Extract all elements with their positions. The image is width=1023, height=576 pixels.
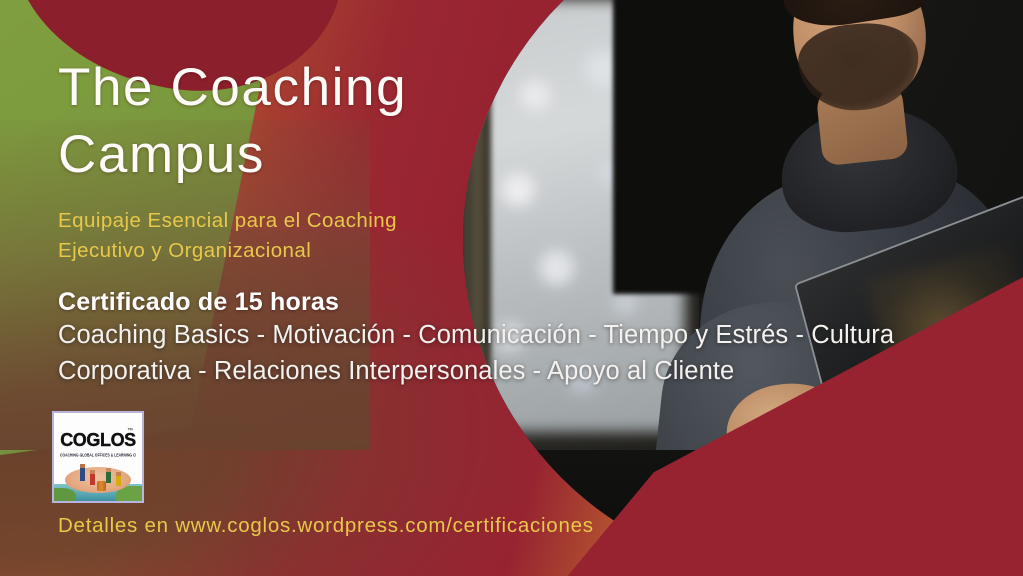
logo-art-barrel <box>97 481 106 491</box>
coglos-logo: COGLOS ™ COACHING GLOBAL OFFICES & LEARN… <box>52 411 144 503</box>
topics-list: Coaching Basics - Motivación - Comunicac… <box>58 317 988 389</box>
trademark-icon: ™ <box>127 428 133 434</box>
promo-poster: The Coaching Campus Equipaje Esencial pa… <box>0 0 1023 576</box>
logo-art-grass-left <box>54 488 76 501</box>
logo-inner: COGLOS ™ COACHING GLOBAL OFFICES & LEARN… <box>54 413 142 501</box>
logo-tagline: COACHING GLOBAL OFFICES & LEARNING CENTE… <box>60 452 136 457</box>
topics-line-2: Corporativa - Relaciones Interpersonales… <box>58 353 988 389</box>
poster-subtitle: Equipaje Esencial para el Coaching Ejecu… <box>58 206 478 265</box>
logo-art-figure <box>116 476 121 486</box>
logo-art-figure <box>90 474 95 485</box>
certificate-label: Certificado de 15 horas <box>58 288 339 317</box>
logo-art-figure <box>106 472 111 483</box>
page-title: The Coaching Campus <box>58 55 528 189</box>
poster-content: The Coaching Campus Equipaje Esencial pa… <box>0 0 1023 576</box>
logo-illustration <box>54 459 142 501</box>
details-url: Detalles en www.coglos.wordpress.com/cer… <box>58 514 594 538</box>
topics-line-1: Coaching Basics - Motivación - Comunicac… <box>58 317 988 353</box>
logo-art-figure <box>80 468 85 481</box>
